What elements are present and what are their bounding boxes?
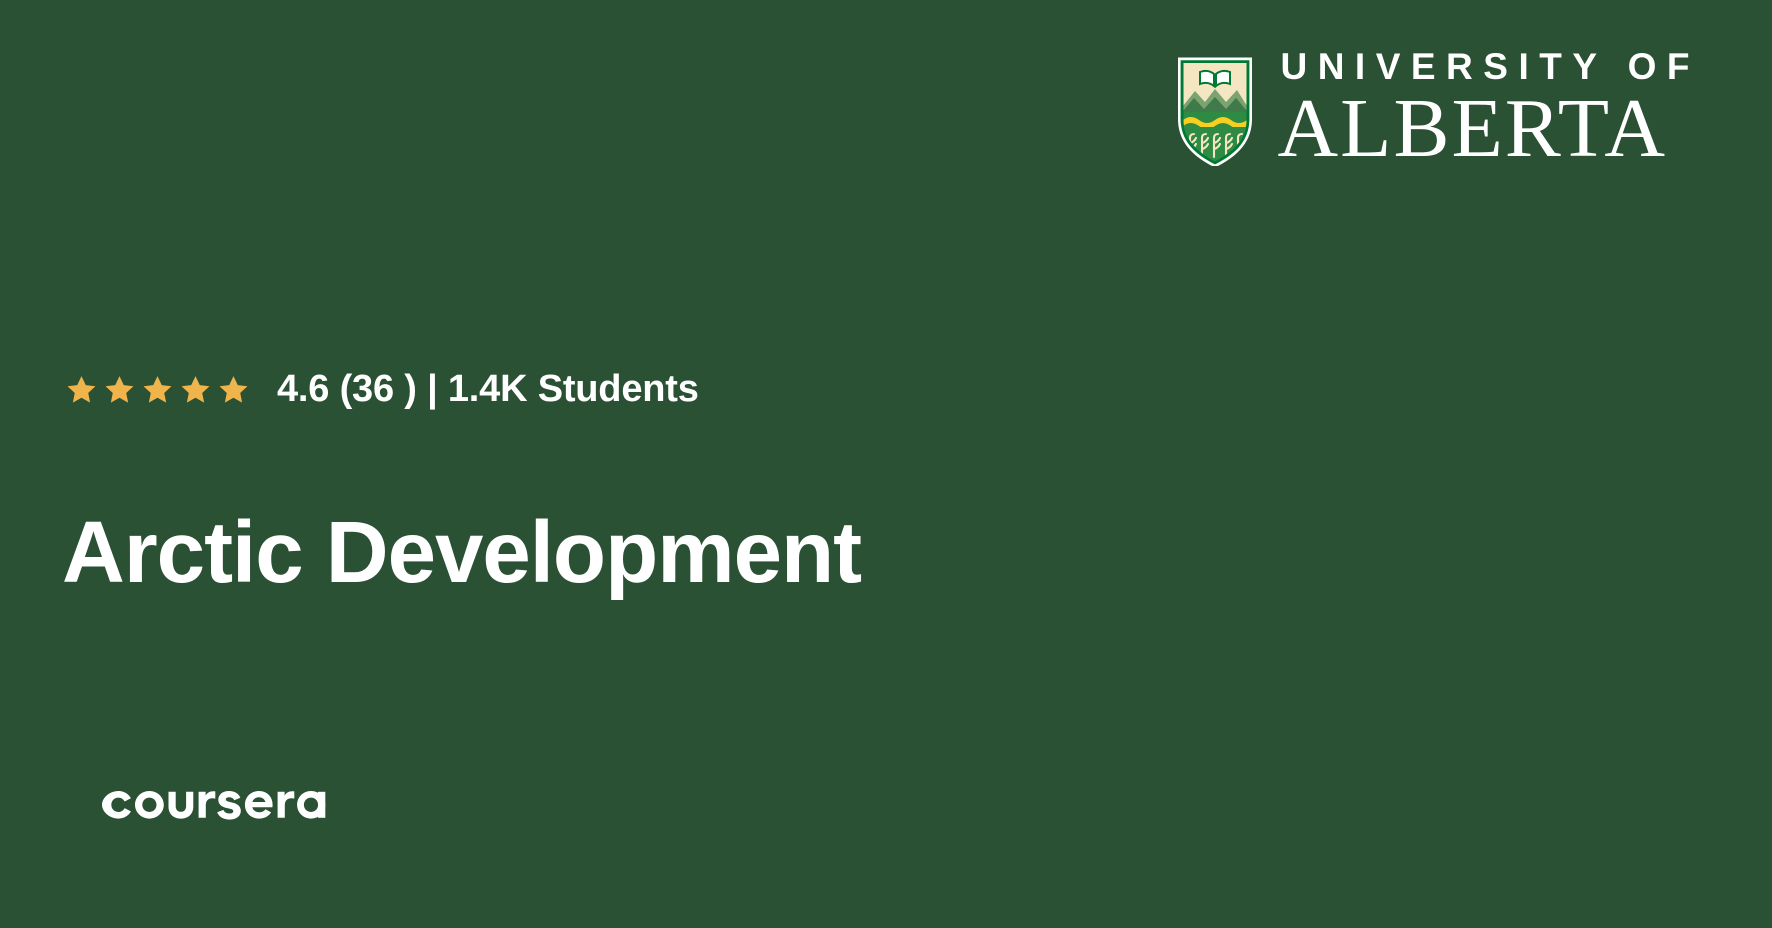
coursera-wordmark-logo (96, 778, 356, 824)
rating-summary-text: 4.6 (36 ) | 1.4K Students (277, 368, 699, 411)
course-title: Arctic Development (62, 503, 861, 603)
university-of-alberta-logo: UNIVERSITY OF ALBERTA (1175, 48, 1700, 171)
star-icon (104, 374, 135, 405)
star-icon (66, 374, 97, 405)
university-wordmark-line-2: ALBERTA (1277, 87, 1700, 171)
university-wordmark: UNIVERSITY OF ALBERTA (1277, 48, 1700, 171)
alberta-shield-icon (1175, 54, 1255, 166)
star-icon (180, 374, 211, 405)
university-wordmark-line-1: UNIVERSITY OF (1277, 48, 1700, 85)
rating-row: 4.6 (36 ) | 1.4K Students (66, 368, 699, 410)
course-promo-banner: UNIVERSITY OF ALBERTA (0, 0, 1772, 928)
star-icon (142, 374, 173, 405)
star-icon (218, 374, 249, 405)
star-rating (66, 374, 249, 405)
